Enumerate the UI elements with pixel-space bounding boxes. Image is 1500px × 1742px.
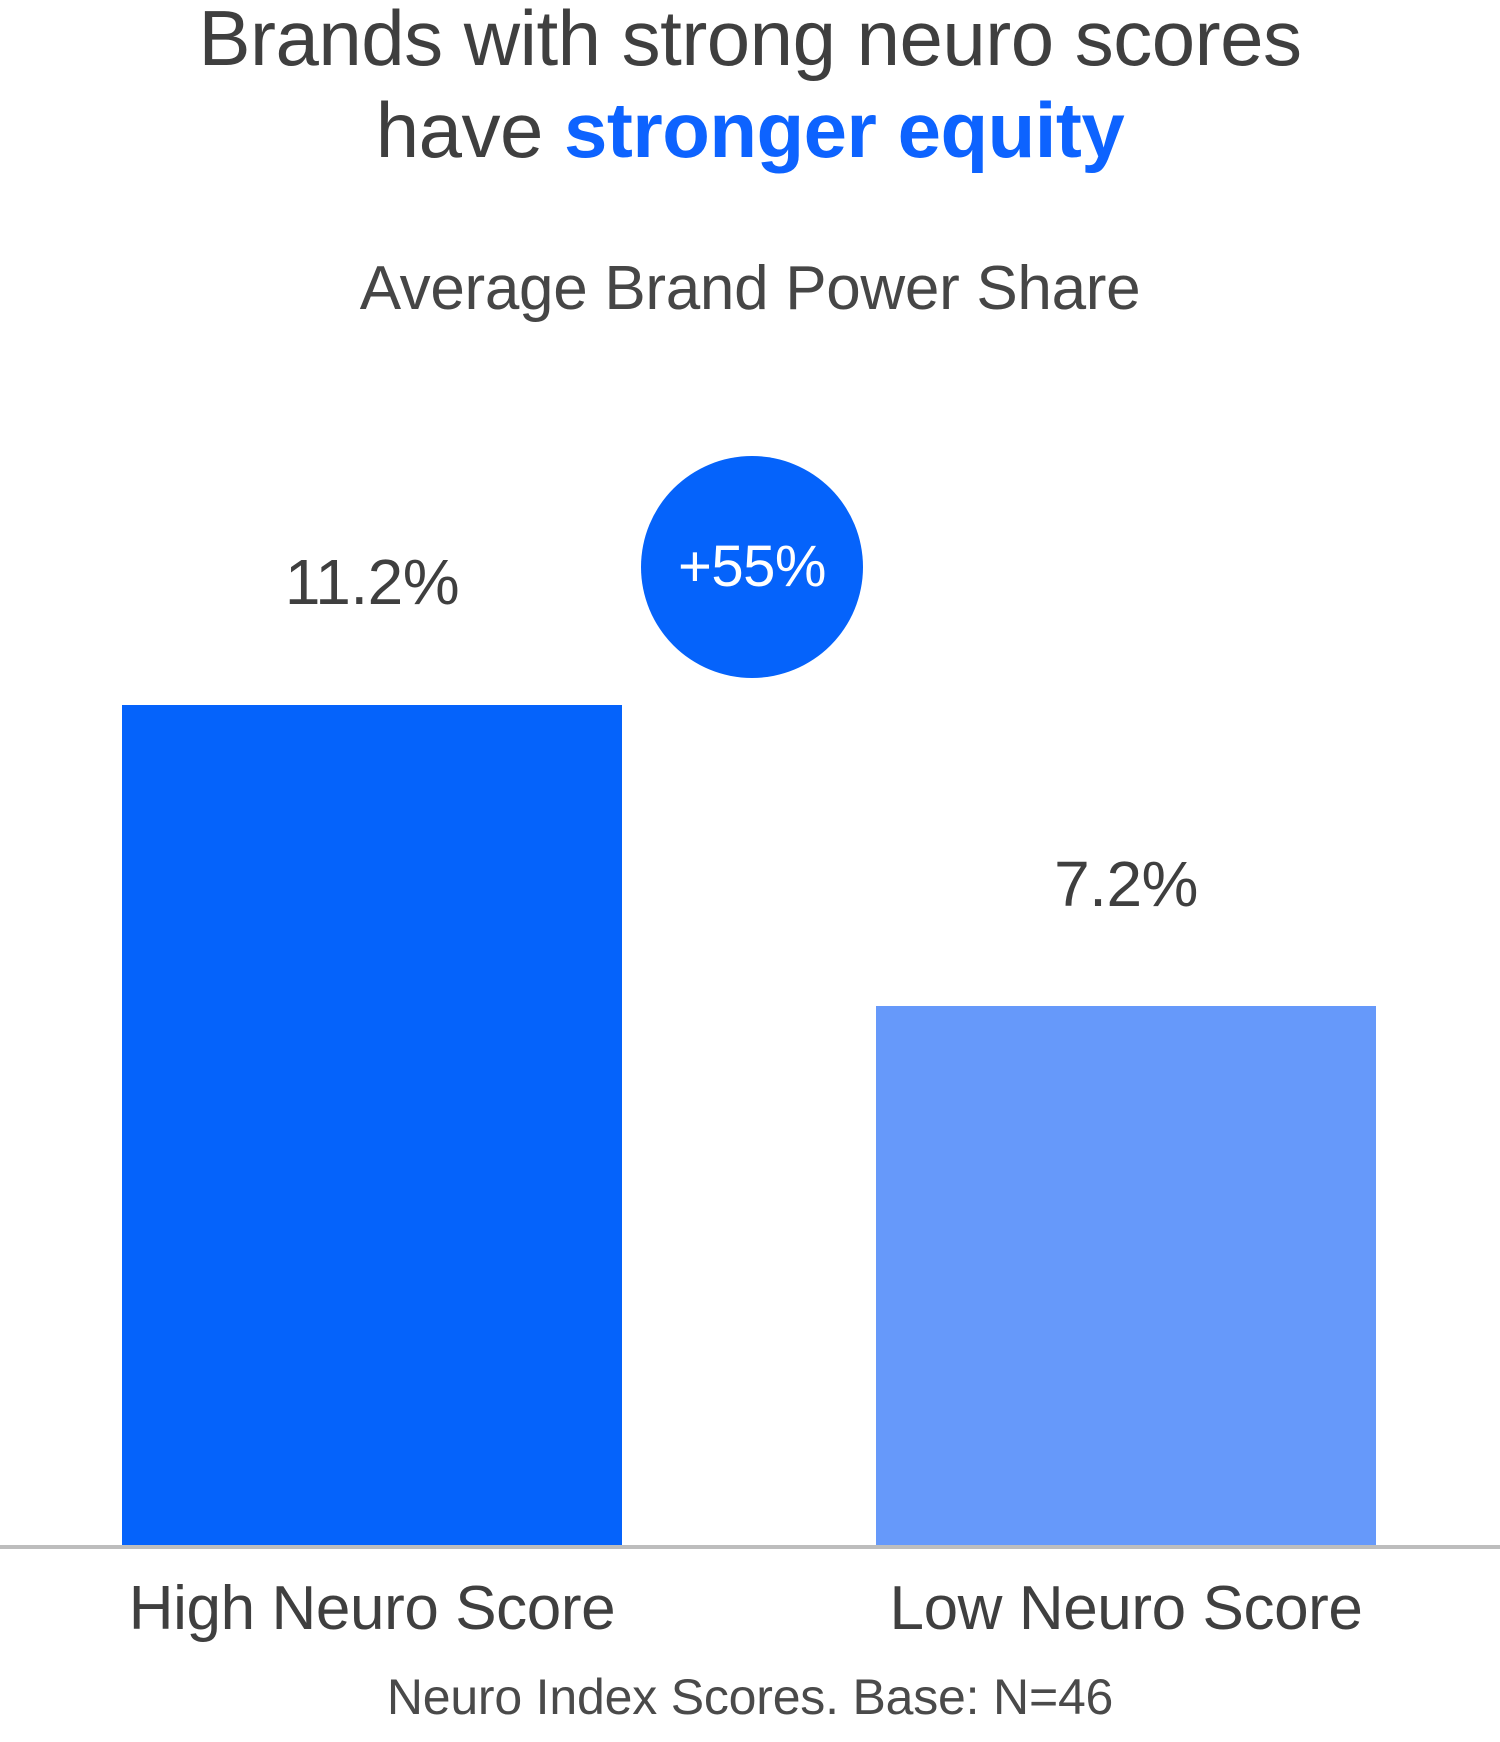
source-footnote: Neuro Index Scores. Base: N=46: [0, 1668, 1500, 1726]
slide-canvas: Brands with strong neuro scores have str…: [0, 0, 1500, 1742]
bar-high-neuro-score: [122, 705, 622, 1548]
bar-value-label-low-neuro: 7.2%: [876, 847, 1376, 921]
category-label-high-neuro: High Neuro Score: [122, 1573, 622, 1644]
delta-badge: +55%: [641, 456, 863, 678]
x-axis-line: [0, 1545, 1500, 1549]
delta-badge-label: +55%: [678, 538, 826, 596]
bar-value-label-high-neuro: 11.2%: [122, 545, 622, 619]
category-label-low-neuro: Low Neuro Score: [876, 1573, 1376, 1644]
bar-low-neuro-score: [876, 1006, 1376, 1548]
bar-chart: 11.2% 7.2% High Neuro Score Low Neuro Sc…: [0, 0, 1500, 1742]
